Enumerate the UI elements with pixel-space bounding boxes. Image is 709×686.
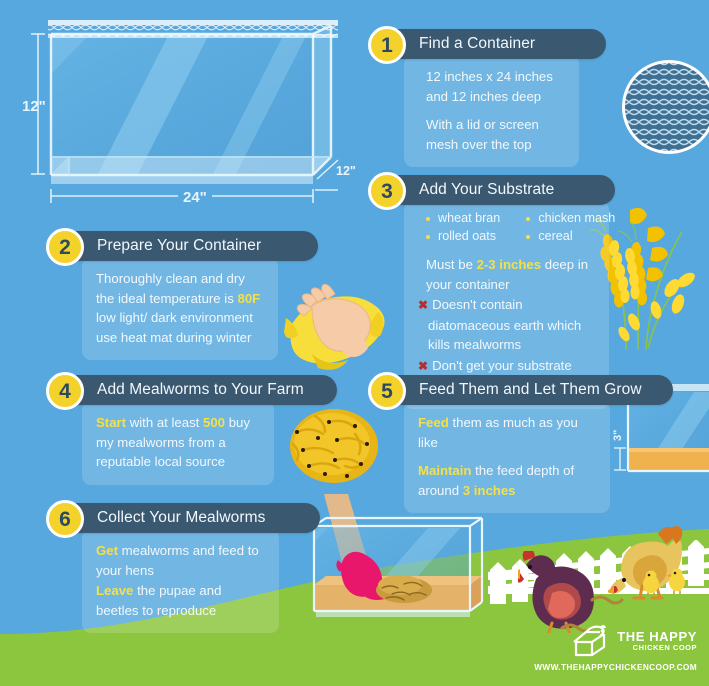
brand-url[interactable]: WWW.THEHAPPYCHICKENCOOP.COM <box>534 662 697 672</box>
step-5-line-1: Feed them as much as you like <box>418 413 596 452</box>
container-width-label: 24" <box>178 189 212 206</box>
step-6-line-1-post: mealworms and feed to your hens <box>96 543 259 578</box>
step-2-header: 2 Prepare Your Container <box>46 228 296 258</box>
cleaning-cloth-and-hand-illustration <box>282 272 390 370</box>
step-4-badge: 4 <box>46 372 84 410</box>
step-4-body: Start with at least 500 buy my mealworms… <box>96 413 260 472</box>
step-5: 5 Feed Them and Let Them Grow Feed them … <box>368 372 608 402</box>
step-6-header: 6 Collect Your Mealworms <box>46 500 296 530</box>
substrate-bullets-right: chicken mash cereal <box>526 210 615 245</box>
step-5-badge: 5 <box>368 372 406 410</box>
step-3-title: Add Your Substrate <box>419 181 554 199</box>
screen-mesh-illustration <box>619 57 709 161</box>
step-2-panel: Thoroughly clean and dry the ideal tempe… <box>82 257 278 360</box>
step-3-warning-1-text: Doesn't contain diatomaceous earth which… <box>428 297 581 352</box>
infographic-canvas: 12" 24" 12" 1 Find a Container 12 inches… <box>0 0 709 686</box>
step-6-leave-highlight: Leave <box>96 583 133 598</box>
step-4-panel: Start with at least 500 buy my mealworms… <box>82 401 274 485</box>
step-6-get-highlight: Get <box>96 543 118 558</box>
step-5-panel: Feed them as much as you like Maintain t… <box>404 401 610 513</box>
container-depth-label: 12" <box>336 164 356 178</box>
step-5-depth-highlight: 3 inches <box>463 483 516 498</box>
step-6-badge: 6 <box>46 500 84 538</box>
step-1-line-1: 12 inches x 24 inches and 12 inches deep <box>426 67 565 106</box>
step-4-start-highlight: Start <box>96 415 126 430</box>
step-4-count-highlight: 500 <box>203 415 225 430</box>
step-2-titlebar[interactable]: Prepare Your Container <box>73 231 318 261</box>
step-5-header: 5 Feed Them and Let Them Grow <box>368 372 608 402</box>
step-1-line-2: With a lid or screen mesh over the top <box>426 115 565 154</box>
step-1-header: 1 Find a Container <box>368 26 583 56</box>
step-6: 6 Collect Your Mealworms Get mealworms a… <box>46 500 296 530</box>
step-2-badge: 2 <box>46 228 84 266</box>
step-3-badge: 3 <box>368 172 406 210</box>
brand-subtitle: CHICKEN COOP <box>617 643 697 653</box>
brand-name: THE HAPPY <box>617 630 697 643</box>
step-4-body-mid: with at least <box>126 415 203 430</box>
step-2: 2 Prepare Your Container Thoroughly clea… <box>46 228 296 258</box>
step-4: 4 Add Mealworms to Your Farm Start with … <box>46 372 296 402</box>
step-3-depth-line: Must be 2-3 inches deep in your containe… <box>426 255 595 294</box>
list-item: cereal <box>526 228 615 246</box>
step-3-header: 3 Add Your Substrate <box>368 172 603 202</box>
mealworm-pile-illustration <box>285 404 383 486</box>
x-mark-icon: ✖ <box>418 298 428 312</box>
step-5-titlebar[interactable]: Feed Them and Let Them Grow <box>395 375 673 405</box>
feed-depth-label: 3" <box>612 430 624 441</box>
step-3-depth-pre: Must be <box>426 257 477 272</box>
step-2-body: Thoroughly clean and dry the ideal tempe… <box>96 269 264 347</box>
x-mark-icon: ✖ <box>418 359 428 373</box>
container-diagram-illustration <box>18 14 358 214</box>
step-1: 1 Find a Container 12 inches x 24 inches… <box>368 26 583 56</box>
footer-logo[interactable]: THE HAPPY CHICKEN COOP WWW.THEHAPPYCHICK… <box>534 624 697 672</box>
step-5-maintain-highlight: Maintain <box>418 463 471 478</box>
step-4-header: 4 Add Mealworms to Your Farm <box>46 372 296 402</box>
step-6-line-2: Leave the pupae and beetles to reproduce <box>96 581 265 620</box>
step-4-title: Add Mealworms to Your Farm <box>97 381 304 399</box>
step-4-titlebar[interactable]: Add Mealworms to Your Farm <box>73 375 337 405</box>
step-2-body-pre: Thoroughly clean and dry the ideal tempe… <box>96 271 245 306</box>
step-6-titlebar[interactable]: Collect Your Mealworms <box>73 503 320 533</box>
ground-mealworms-illustration <box>588 592 638 612</box>
step-5-title: Feed Them and Let Them Grow <box>419 381 642 399</box>
step-5-feed-highlight: Feed <box>418 415 449 430</box>
step-3: 3 Add Your Substrate wheat bran rolled o… <box>368 172 603 202</box>
step-5-line-2: Maintain the feed depth of around 3 inch… <box>418 461 596 500</box>
substrate-bullets-left: wheat bran rolled oats <box>426 210 500 245</box>
step-6-title: Collect Your Mealworms <box>97 509 265 527</box>
step-1-badge: 1 <box>368 26 406 64</box>
step-2-temperature-highlight: 80F <box>237 291 260 306</box>
step-3-titlebar[interactable]: Add Your Substrate <box>395 175 615 205</box>
chicken-coop-icon <box>570 624 610 658</box>
substrate-bullet-lists: wheat bran rolled oats chicken mash cere… <box>426 210 595 245</box>
step-2-body-post: low light/ dark environment use heat mat… <box>96 310 253 345</box>
step-2-title: Prepare Your Container <box>97 237 261 255</box>
list-item: wheat bran <box>426 210 500 228</box>
step-3-depth-highlight: 2-3 inches <box>477 257 542 272</box>
list-item: rolled oats <box>426 228 500 246</box>
step-6-line-1: Get mealworms and feed to your hens <box>96 541 265 580</box>
step-6-panel: Get mealworms and feed to your hens Leav… <box>82 529 279 633</box>
step-1-panel: 12 inches x 24 inches and 12 inches deep… <box>404 55 579 167</box>
logo-row: THE HAPPY CHICKEN COOP <box>534 624 697 658</box>
container-height-label: 12" <box>22 98 46 115</box>
step-1-title: Find a Container <box>419 35 535 53</box>
step-3-warning-1: ✖Doesn't contain diatomaceous earth whic… <box>418 295 595 355</box>
chick-illustration <box>666 568 688 594</box>
chick-illustration <box>640 570 662 596</box>
list-item: chicken mash <box>526 210 615 228</box>
step-1-titlebar[interactable]: Find a Container <box>395 29 606 59</box>
